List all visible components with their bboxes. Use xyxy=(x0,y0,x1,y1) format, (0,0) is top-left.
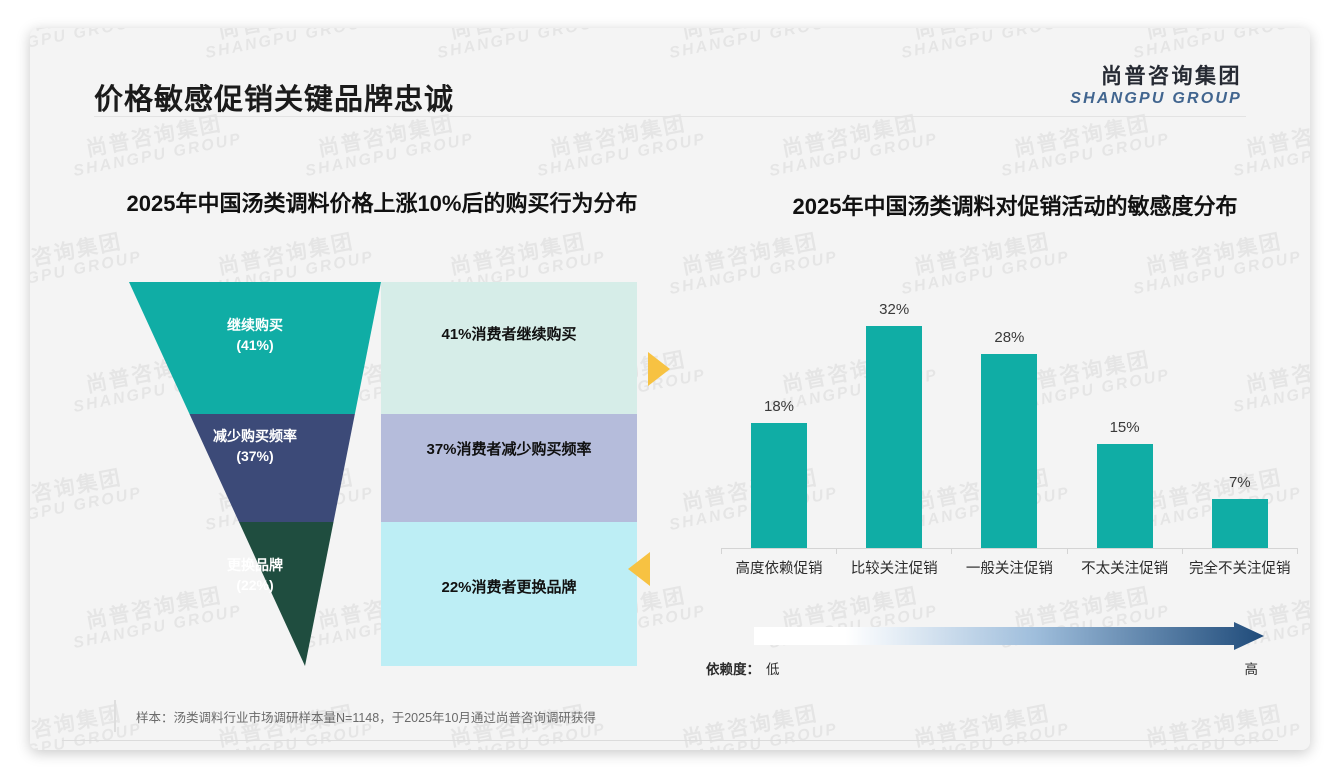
sensitivity-bar-chart: 18%高度依赖促销32%比较关注促销28%一般关注促销15%不太关注促销7%完全… xyxy=(720,272,1300,592)
source-note: 样本：汤类调料行业市场调研样本量N=1148，于2025年10月通过尚普咨询调研… xyxy=(114,700,670,732)
slide-header: 价格敏感促销关键品牌忠诚 尚普咨询集团 SHANGPU GROUP xyxy=(30,28,1310,116)
funnel-stage-label: 更换品牌 (22%) xyxy=(129,555,381,596)
watermark-text: 尚普咨询集团SHANGPU GROUP xyxy=(300,110,476,181)
watermark-text: 尚普咨询集团SHANGPU GROUP xyxy=(532,110,708,181)
axis-tick xyxy=(1297,548,1298,554)
watermark-text: 尚普咨询集团SHANGPU GROUP xyxy=(764,110,940,181)
triangle-right-icon xyxy=(648,352,670,386)
bar[interactable] xyxy=(981,354,1037,548)
funnel-description-band xyxy=(381,414,637,522)
bar-value-label: 18% xyxy=(726,398,832,415)
logo-text-cn: 尚普咨询集团 xyxy=(1070,64,1242,89)
left-chart-title: 2025年中国汤类调料价格上涨10%后的购买行为分布 xyxy=(76,188,688,220)
triangle-left-icon xyxy=(628,552,650,586)
bar[interactable] xyxy=(751,423,807,548)
bar[interactable] xyxy=(1212,499,1268,548)
bar-category-label: 一般关注促销 xyxy=(951,557,1067,578)
funnel-description-band xyxy=(381,282,637,414)
company-logo: 尚普咨询集团 SHANGPU GROUP xyxy=(1070,64,1242,109)
bar-value-label: 7% xyxy=(1187,474,1293,491)
funnel-stage-description: 41%消费者继续购买 xyxy=(391,323,627,347)
watermark-text: 尚普咨询集团SHANGPU GROUP xyxy=(30,228,144,299)
funnel-stage-label: 减少购买频率 (37%) xyxy=(129,426,381,467)
legend-high-label: 高 xyxy=(1245,658,1259,678)
footer-divider xyxy=(62,740,1278,741)
funnel-stage-label: 继续购买 (41%) xyxy=(129,315,381,356)
gradient-arrow-icon xyxy=(754,620,1264,652)
bar-category-label: 不太关注促销 xyxy=(1067,557,1183,578)
source-note-text: 样本：汤类调料行业市场调研样本量N=1148，于2025年10月通过尚普咨询调研… xyxy=(136,707,596,726)
watermark-text: 尚普咨询集团SHANGPU GROUP xyxy=(1128,700,1304,750)
funnel-stage-description: 22%消费者更换品牌 xyxy=(391,576,627,600)
watermark-text: 尚普咨询集团SHANGPU GROUP xyxy=(996,110,1172,181)
watermark-text: 尚普咨询集团SHANGPU GROUP xyxy=(664,700,840,750)
watermark-text: 尚普咨询集团SHANGPU GROUP xyxy=(896,700,1072,750)
slide-canvas: 尚普咨询集团SHANGPU GROUP尚普咨询集团SHANGPU GROUP尚普… xyxy=(30,28,1310,750)
axis-tick xyxy=(1182,548,1183,554)
title-divider xyxy=(94,116,1246,117)
bar-category-label: 完全不关注促销 xyxy=(1182,557,1298,578)
bar[interactable] xyxy=(866,326,922,548)
bar-value-label: 32% xyxy=(841,301,947,318)
bar-category-label: 比较关注促销 xyxy=(836,557,952,578)
funnel-chart: 继续购买 (41%)41%消费者继续购买减少购买频率 (37%)37%消费者减少… xyxy=(129,282,637,666)
watermark-text: 尚普咨询集团SHANGPU GROUP xyxy=(30,464,144,535)
watermark-text: 尚普咨询集团SHANGPU GROUP xyxy=(68,110,244,181)
legend-label: 依赖度： xyxy=(706,658,760,678)
axis-tick xyxy=(951,548,952,554)
page-title: 价格敏感促销关键品牌忠诚 xyxy=(94,76,454,118)
legend-low-label: 低 xyxy=(766,658,780,678)
bar-chart-axis xyxy=(722,548,1298,549)
logo-text-en: SHANGPU GROUP xyxy=(1070,89,1242,109)
bar[interactable] xyxy=(1097,444,1153,548)
bar-category-label: 高度依赖促销 xyxy=(721,557,837,578)
gradient-arrow-shape xyxy=(754,622,1264,650)
gradient-arrow-svg xyxy=(754,620,1264,652)
bar-value-label: 28% xyxy=(956,329,1062,346)
right-chart-title: 2025年中国汤类调料对促销活动的敏感度分布 xyxy=(720,191,1310,223)
watermark-text: 尚普咨询集团SHANGPU GROUP xyxy=(1228,110,1310,181)
dependency-gradient-legend: 依赖度： 低 高 xyxy=(706,620,1272,682)
funnel-stage-description: 37%消费者减少购买频率 xyxy=(391,438,627,462)
axis-tick xyxy=(836,548,837,554)
bar-value-label: 15% xyxy=(1072,419,1178,436)
axis-tick xyxy=(1067,548,1068,554)
axis-tick xyxy=(721,548,722,554)
